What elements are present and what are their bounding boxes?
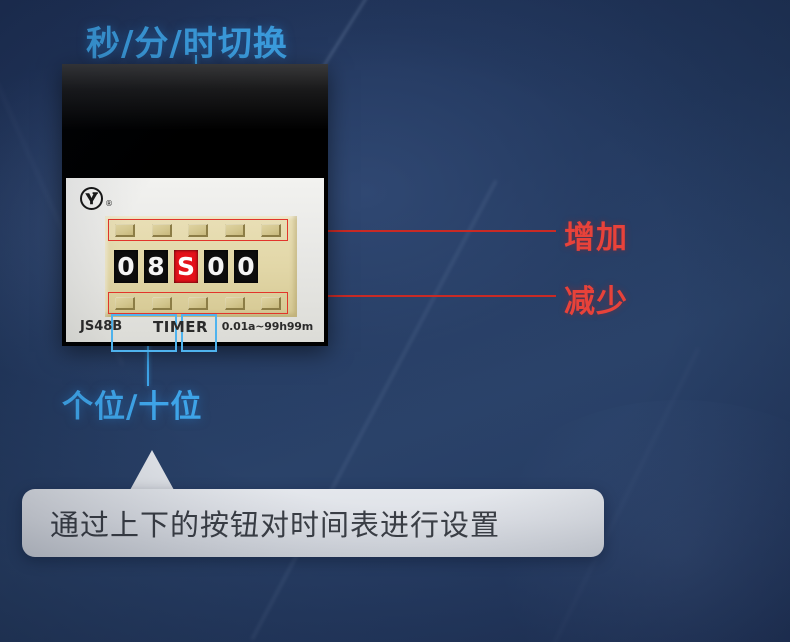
digit-four[interactable]: 0	[204, 250, 228, 283]
keypad-tray: 0 8 S 0 0	[105, 216, 297, 317]
annotation-increase: 增加	[564, 212, 628, 257]
device-front-panel: ® 0 8 S 0 0	[66, 178, 324, 342]
digit-tens[interactable]: 0	[114, 250, 138, 283]
leader-line-decrease	[294, 295, 556, 297]
digit-ones[interactable]: 8	[144, 250, 168, 283]
device-type-label: TIMER	[153, 318, 208, 336]
device-model-label: JS48B	[80, 319, 122, 334]
annotation-digit-place: 个位/十位	[62, 381, 202, 426]
device-range-label: 0.01a~99h99m	[222, 320, 313, 333]
decrease-button-1[interactable]	[115, 297, 135, 310]
increase-button-5[interactable]	[261, 224, 281, 237]
increase-button-2[interactable]	[152, 224, 172, 237]
decrease-button-2[interactable]	[152, 297, 172, 310]
digit-display: 0 8 S 0 0	[114, 246, 282, 286]
decrease-button-4[interactable]	[225, 297, 245, 310]
timer-device: ® 0 8 S 0 0	[62, 64, 328, 346]
leader-line-increase	[294, 230, 556, 232]
device-label-row: JS48B TIMER 0.01a~99h99m	[66, 316, 324, 338]
decrease-button-3[interactable]	[188, 297, 208, 310]
digit-unit[interactable]: S	[174, 250, 198, 283]
tooltip-pointer	[130, 450, 174, 490]
digit-five[interactable]: 0	[234, 250, 258, 283]
decrease-button-5[interactable]	[261, 297, 281, 310]
page-background: 秒/分/时切换 个位/十位 增加 减少 ®	[0, 0, 790, 642]
yt-circle-logo-icon	[80, 187, 103, 210]
increase-button-3[interactable]	[188, 224, 208, 237]
tooltip-text: 通过上下的按钮对时间表进行设置	[50, 502, 500, 544]
annotation-mode-switch: 秒/分/时切换	[86, 16, 288, 65]
device-upper-housing	[62, 64, 328, 178]
decrease-button-row[interactable]	[108, 292, 288, 314]
annotation-decrease: 减少	[564, 276, 628, 321]
increase-button-1[interactable]	[115, 224, 135, 237]
tooltip-callout: 通过上下的按钮对时间表进行设置	[22, 489, 604, 557]
increase-button-4[interactable]	[225, 224, 245, 237]
brand-logo: ®	[80, 187, 113, 210]
registered-trademark-icon: ®	[105, 200, 113, 210]
increase-button-row[interactable]	[108, 219, 288, 241]
